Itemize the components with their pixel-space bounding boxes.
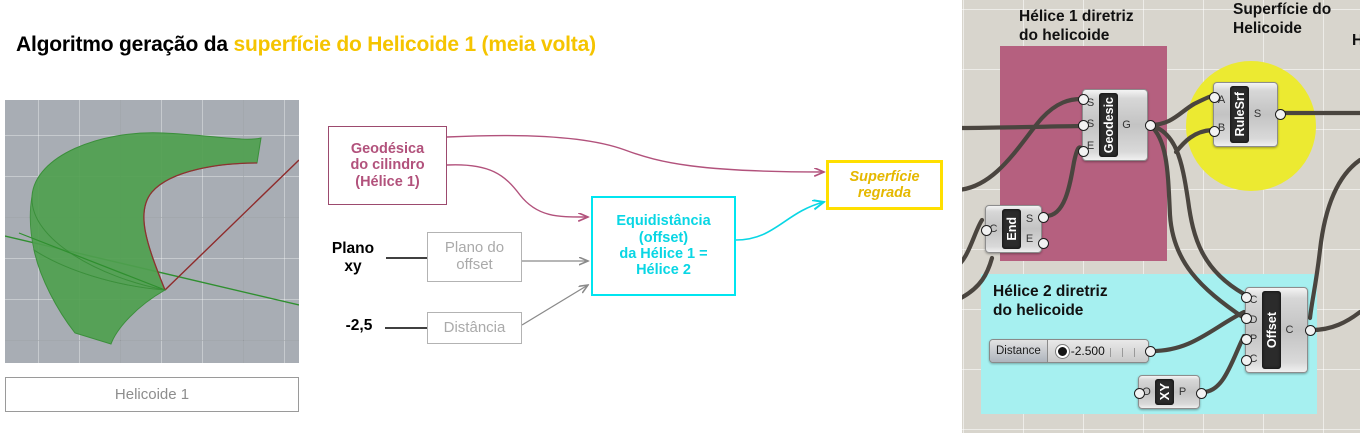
geodesic-port-dot-s1[interactable]	[1078, 94, 1089, 105]
rulesrf-port-dot-a[interactable]	[1209, 92, 1220, 103]
dynamo-cut-off-label: H	[1352, 32, 1360, 50]
distance-slider-label: Distance	[990, 340, 1048, 362]
geodesic-node-label: Geodesic	[1102, 97, 1116, 153]
offset-node-label: Offset	[1265, 312, 1279, 348]
offset-node-body: Offset	[1262, 291, 1281, 369]
flow-box-equidistancia-text: Equidistância (offset) da Hélice 1 = Hél…	[616, 213, 710, 279]
dynamo-group-title-superficie: Superfície do Helicoide	[1233, 1, 1360, 38]
dynamo-node-rulesrf[interactable]: A B RuleSrf S	[1213, 82, 1278, 147]
distance-slider-knob[interactable]	[1056, 345, 1069, 358]
rulesrf-output-s[interactable]: S	[1250, 109, 1265, 120]
flow-box-superficie-regrada: Superfície regrada	[826, 160, 943, 210]
geodesic-port-dot-s2[interactable]	[1078, 120, 1089, 131]
rulesrf-port-dot-b[interactable]	[1209, 126, 1220, 137]
flow-box-equidistancia: Equidistância (offset) da Hélice 1 = Hél…	[591, 196, 736, 296]
rulesrf-node-label: RuleSrf	[1233, 92, 1247, 136]
distance-slider-value: -2.500	[1071, 344, 1105, 358]
rulesrf-node-body: RuleSrf	[1230, 86, 1249, 143]
offset-port-dot-p[interactable]	[1241, 334, 1252, 345]
end-output-ports[interactable]: S E	[1022, 206, 1037, 252]
offset-output-c[interactable]: C	[1282, 325, 1297, 336]
geodesic-output-ports[interactable]: G	[1119, 90, 1134, 160]
offset-port-dot-out-c[interactable]	[1305, 325, 1316, 336]
end-port-dot-s[interactable]	[1038, 212, 1049, 223]
flow-label-plano-xy: Plano xy	[322, 240, 384, 276]
geodesic-output-g[interactable]: G	[1119, 120, 1134, 131]
xy-port-dot-p[interactable]	[1196, 388, 1207, 399]
distance-slider-track[interactable]: -2.500	[1048, 340, 1148, 362]
xy-node-body: XY	[1155, 379, 1174, 405]
offset-output-ports[interactable]: C	[1282, 288, 1297, 372]
end-output-s[interactable]: S	[1022, 214, 1037, 225]
end-port-dot-e[interactable]	[1038, 238, 1049, 249]
dynamo-group-title-helice2: Hélice 2 diretriz do helicoide	[993, 283, 1183, 320]
flow-connectors	[0, 0, 962, 433]
dynamo-node-distance-slider[interactable]: Distance -2.500	[989, 339, 1149, 363]
xy-node-label: XY	[1157, 383, 1172, 400]
flow-box-distancia-text: Distância	[444, 320, 506, 337]
xy-output-p[interactable]: P	[1175, 387, 1190, 398]
rulesrf-port-dot-s[interactable]	[1275, 109, 1286, 120]
end-output-e[interactable]: E	[1022, 234, 1037, 245]
flow-box-plano-text: Plano do offset	[445, 240, 504, 274]
geodesic-port-dot-e[interactable]	[1078, 146, 1089, 157]
flow-box-distancia: Distância	[427, 312, 522, 344]
dynamo-node-xy[interactable]: O XY P	[1138, 375, 1200, 409]
flow-box-superficie-text: Superfície regrada	[849, 169, 919, 202]
geodesic-port-dot-g[interactable]	[1145, 120, 1156, 131]
xy-output-ports[interactable]: P	[1175, 376, 1190, 408]
dynamo-node-end[interactable]: C End S E	[985, 205, 1042, 253]
flow-label-distancia-value: -2,5	[335, 317, 383, 335]
dynamo-group-title-helice1: Hélice 1 diretriz do helicoide	[1019, 8, 1179, 45]
distance-slider-ticks	[1110, 348, 1142, 357]
dynamo-node-geodesic[interactable]: S S E Geodesic G	[1082, 89, 1148, 161]
flow-box-geodesica-text: Geodésica do cilindro (Hélice 1)	[350, 141, 424, 190]
end-port-dot-c[interactable]	[981, 225, 992, 236]
end-node-label: End	[1005, 217, 1019, 241]
dynamo-node-offset[interactable]: C D P C Offset C	[1245, 287, 1308, 373]
algorithm-flow-diagram: Geodésica do cilindro (Hélice 1) Equidis…	[0, 0, 962, 433]
distance-slider-port-dot[interactable]	[1145, 346, 1156, 357]
geodesic-node-body: Geodesic	[1099, 93, 1118, 157]
end-node-body: End	[1002, 209, 1021, 249]
offset-port-dot-c1[interactable]	[1241, 292, 1252, 303]
dynamo-canvas[interactable]: Hélice 1 diretriz do helicoide Superfíci…	[962, 0, 1360, 433]
xy-port-dot-o[interactable]	[1134, 388, 1145, 399]
flow-box-plano-do-offset: Plano do offset	[427, 232, 522, 282]
offset-port-dot-d[interactable]	[1241, 313, 1252, 324]
offset-port-dot-c2[interactable]	[1241, 355, 1252, 366]
flow-box-geodesica: Geodésica do cilindro (Hélice 1)	[328, 126, 447, 205]
rulesrf-output-ports[interactable]: S	[1250, 83, 1265, 146]
